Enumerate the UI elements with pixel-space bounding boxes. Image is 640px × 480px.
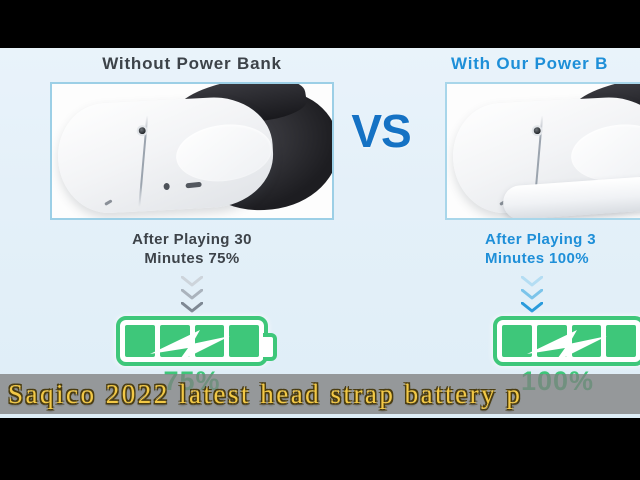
caption-left-line2: Minutes 75%: [144, 250, 239, 267]
chevron-down-icon: [181, 302, 203, 313]
lightning-bolt-icon: [525, 324, 609, 366]
chevron-down-icon: [521, 276, 543, 287]
product-photo-panel-left: [50, 82, 334, 220]
chevron-down-icon: [181, 276, 203, 287]
battery-indicator-left-wrap: [42, 316, 342, 366]
chevron-down-icon: [521, 302, 543, 313]
chevron-arrows-right: [437, 276, 640, 315]
video-content-area[interactable]: Without Power Bank After Play: [0, 48, 640, 418]
video-player-stage: Without Power Bank After Play: [0, 0, 640, 480]
comparison-column-without-power-bank: Without Power Bank After Play: [42, 48, 342, 418]
letterbox-top: [0, 0, 640, 48]
vr-headset-image-with-battery: [447, 84, 640, 218]
caption-left: After Playing 30 Minutes 75%: [42, 231, 342, 269]
caption-left-line1: After Playing 30: [132, 231, 252, 248]
video-caption-banner: Saqico 2022 latest head strap battery p: [0, 374, 640, 414]
battery-indicator-right-wrap: [437, 316, 640, 366]
lightning-bolt-icon: [148, 324, 232, 366]
product-photo-panel-right: [445, 82, 640, 220]
headset-microphone: [104, 199, 112, 206]
battery-icon: [493, 316, 640, 366]
caption-right: After Playing 3 Minutes 100%: [437, 231, 640, 269]
headset-body: [55, 94, 275, 215]
battery-icon: [116, 316, 268, 366]
caption-right-line2: Minutes 100%: [485, 250, 589, 267]
comparison-column-with-power-bank: With Our Power B A: [437, 48, 640, 418]
heading-with-our-power-bank: With Our Power B: [437, 54, 640, 74]
headset-lens-cover: [568, 119, 640, 186]
battery-bar: [229, 325, 259, 357]
battery-bar: [606, 325, 636, 357]
letterbox-bottom: [0, 418, 640, 480]
video-caption-text: Saqico 2022 latest head strap battery p: [0, 379, 522, 410]
chevron-down-icon: [521, 289, 543, 300]
headset-lens-cover: [173, 119, 275, 186]
vr-headset-image-plain: [52, 84, 332, 218]
chevron-down-icon: [181, 289, 203, 300]
headset-sensor-hole: [163, 183, 169, 190]
vs-label: VS: [333, 104, 429, 158]
heading-without-power-bank: Without Power Bank: [42, 54, 342, 74]
caption-right-line1: After Playing 3: [485, 231, 596, 248]
chevron-arrows-left: [42, 276, 342, 315]
headset-usb-port: [185, 182, 201, 189]
